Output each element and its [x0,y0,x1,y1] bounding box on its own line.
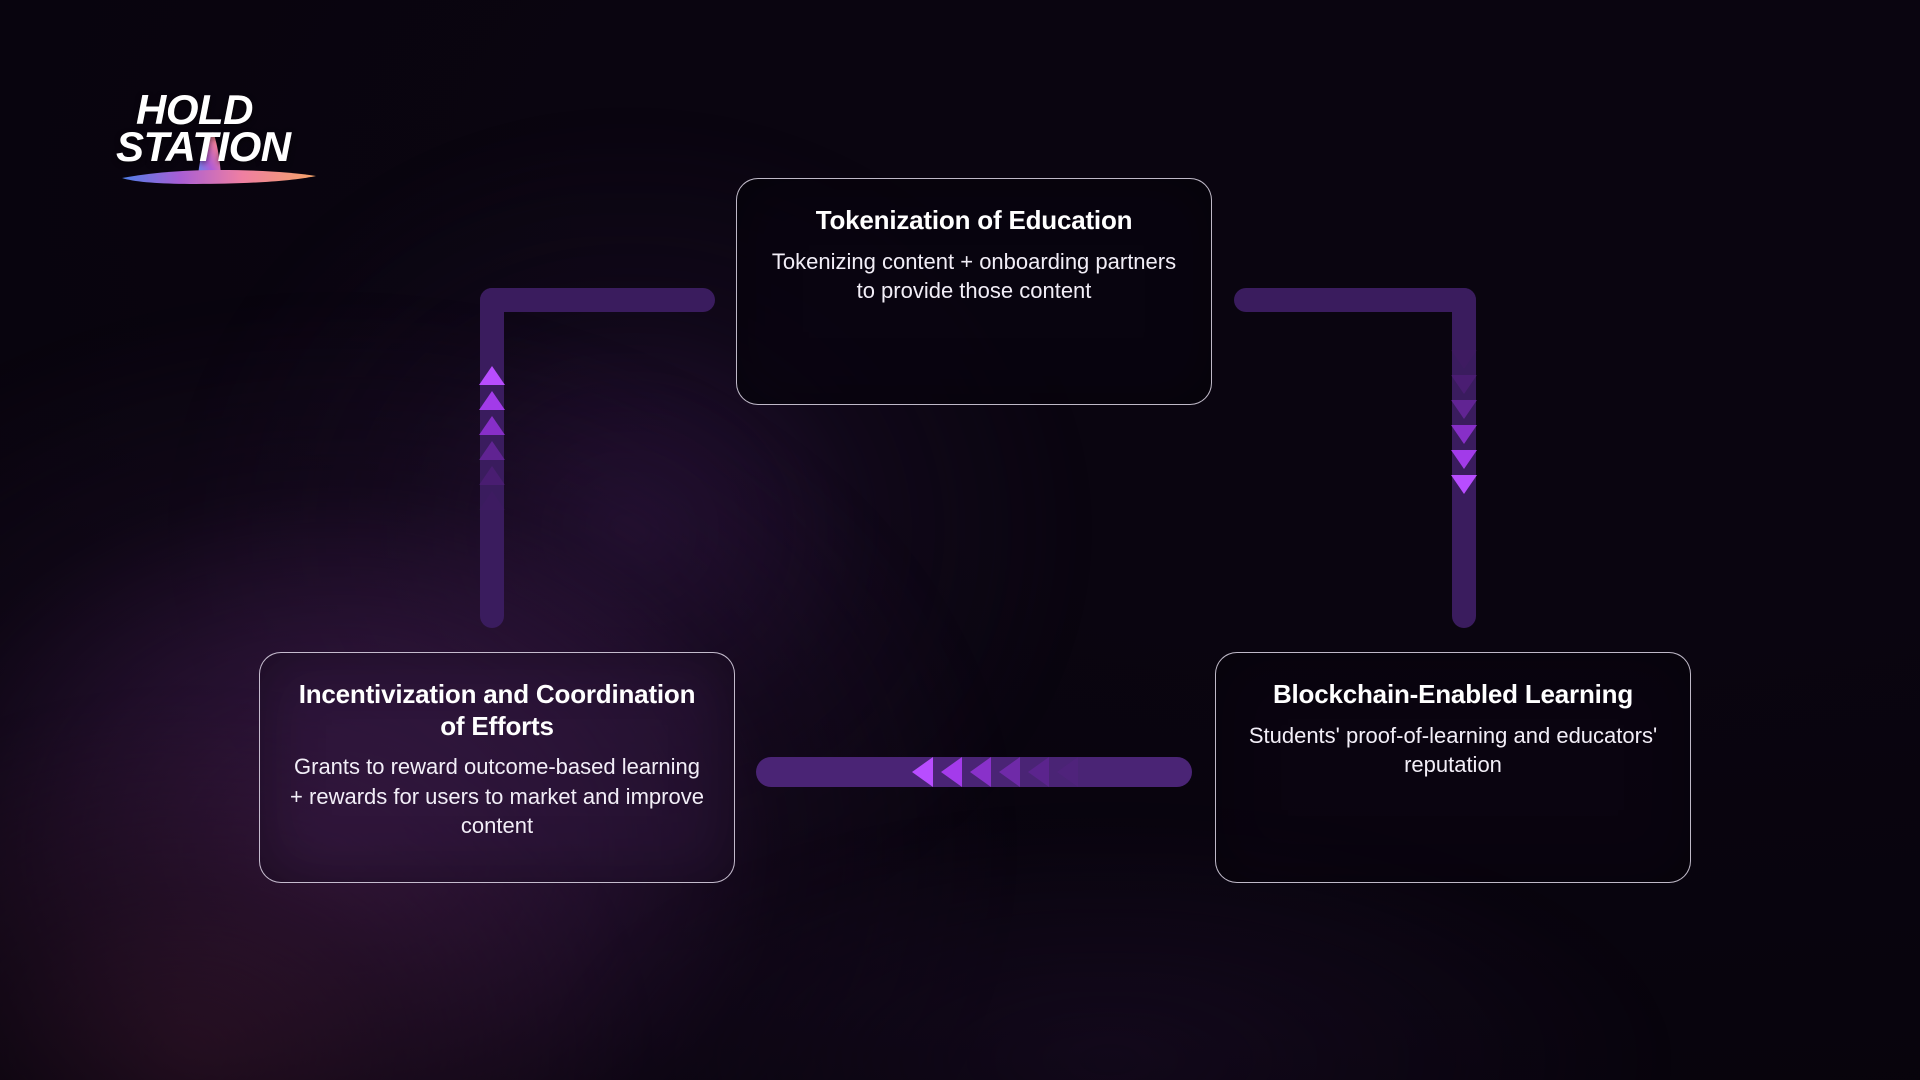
logo-line-station: STATION [116,129,291,166]
slide-canvas: HOLD STATION [0,0,1920,1080]
connector-bottom-left [756,757,1192,787]
flow-arrow [1451,450,1477,469]
flow-arrow [999,757,1020,787]
card-title: Incentivization and Coordination of Effo… [290,679,704,742]
flow-arrow [1451,375,1477,394]
flow-arrow [1451,425,1477,444]
flow-arrow [1451,400,1477,419]
flow-arrow [479,466,505,485]
flow-arrow [1057,757,1078,787]
flow-arrow [479,391,505,410]
flow-arrow [479,416,505,435]
card-description: Grants to reward outcome-based learning … [290,752,704,840]
flow-arrow [912,757,933,787]
holdstation-logo[interactable]: HOLD STATION [116,92,326,187]
card-description: Students' proof-of-learning and educator… [1246,721,1660,780]
flow-arrow [479,441,505,460]
flow-arrow [479,366,505,385]
flow-arrow [479,491,505,510]
card-tokenization-of-education[interactable]: Tokenization of Education Tokenizing con… [736,178,1212,405]
card-title: Blockchain-Enabled Learning [1246,679,1660,711]
flow-arrow [1451,475,1477,494]
connector-right-horizontal-track [1234,288,1476,312]
connector-right-down [1234,288,1500,628]
connector-left-up [480,288,740,628]
connector-left-horizontal-track [480,288,715,312]
card-title: Tokenization of Education [767,205,1181,237]
card-blockchain-enabled-learning[interactable]: Blockchain-Enabled Learning Students' pr… [1215,652,1691,883]
card-description: Tokenizing content + onboarding partners… [767,247,1181,306]
flow-arrow [1028,757,1049,787]
card-incentivization-and-coordination[interactable]: Incentivization and Coordination of Effo… [259,652,735,883]
flow-arrow [970,757,991,787]
flow-arrow [1451,350,1477,369]
flow-arrow [941,757,962,787]
logo-wordmark: HOLD STATION [116,92,291,166]
